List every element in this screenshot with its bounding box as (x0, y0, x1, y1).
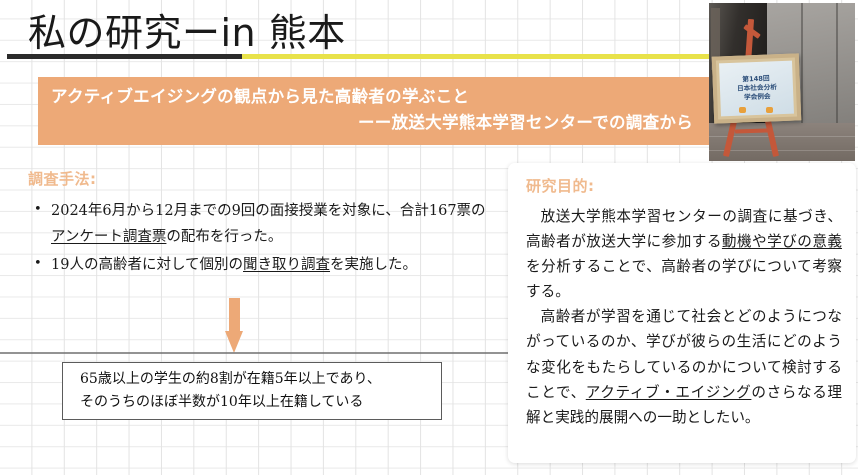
method-bullet-list: 2024年6月から12月までの9回の面接授業を対象に、合計167票のアンケート調… (28, 198, 498, 278)
bullet-2-pre: 19人の高齢者に対して個別の (51, 257, 243, 273)
result-line-2: そのうちのほぼ半数が10年以上在籍している (80, 391, 429, 414)
purpose-heading: 研究目的: (526, 175, 842, 196)
arrow-shaft (229, 298, 240, 334)
purpose-paragraph-1: 放送大学熊本学習センターの調査に基づき、高齢者が放送大学に参加する動機や学びの意… (526, 204, 842, 304)
slide-canvas: 私の研究ーin 熊本 アクティブエイジングの観点から見た高齢者の学ぶこと ーー放… (0, 0, 858, 475)
purpose-p1-post: を分析することで、高齢者の学びについて考察する。 (526, 258, 842, 300)
divider (0, 352, 508, 354)
bullet-1-post: の配布を行った。 (166, 229, 282, 245)
photo-sign-line-2: 日本社会分析 (736, 84, 776, 94)
bullet-2-post: を実施した。 (330, 257, 417, 273)
photo-wall-seam (801, 3, 803, 142)
title-underline-dark-segment (7, 54, 242, 59)
result-line-1: 65歳以上の学生の約8割が在籍5年以上であり、 (80, 368, 429, 391)
photo-easel-knob-left (739, 107, 746, 113)
purpose-p1-underlined: 動機や学びの意義 (722, 233, 842, 250)
purpose-p2-underlined: アクティブ・エイジング (586, 384, 752, 401)
subtitle-line-1: アクティブエイジングの観点から見た高齢者の学ぶこと (51, 84, 693, 110)
photo-content: 第148回 日本社会分析 学会例会 (709, 3, 855, 161)
bullet-2-underlined: 聞き取り調査 (243, 257, 330, 273)
conference-photo: 第148回 日本社会分析 学会例会 (709, 3, 855, 161)
down-arrow-icon (225, 298, 243, 354)
method-section: 調査手法: 2024年6月から12月までの9回の面接授業を対象に、合計167票の… (28, 168, 498, 279)
photo-easel-knob-right (766, 107, 773, 113)
subtitle-banner: アクティブエイジングの観点から見た高齢者の学ぶこと ーー放送大学熊本学習センター… (38, 77, 715, 145)
photo-signboard-face: 第148回 日本社会分析 学会例会 (719, 61, 794, 117)
photo-floor-line (709, 150, 855, 151)
bullet-1-underlined: アンケート調査票 (51, 229, 166, 245)
purpose-panel: 研究目的: 放送大学熊本学習センターの調査に基づき、高齢者が放送大学に参加する動… (508, 163, 856, 463)
arrow-head (225, 331, 243, 353)
method-heading: 調査手法: (28, 168, 498, 189)
result-callout-box: 65歳以上の学生の約8割が在籍5年以上であり、 そのうちのほぼ半数が10年以上在… (62, 362, 442, 420)
bullet-1-pre: 2024年6月から12月までの9回の面接授業を対象に、合計167票の (51, 203, 486, 219)
subtitle-line-2: ーー放送大学熊本学習センターでの調査から (51, 110, 693, 136)
list-item: 19人の高齢者に対して個別の聞き取り調査を実施した。 (28, 252, 498, 278)
photo-sign-line-3: 学会例会 (743, 93, 770, 102)
photo-wall-seam (836, 3, 838, 142)
list-item: 2024年6月から12月までの9回の面接授業を対象に、合計167票のアンケート調… (28, 198, 498, 251)
photo-signboard: 第148回 日本社会分析 学会例会 (712, 53, 802, 123)
purpose-paragraph-2: 高齢者が学習を通じて社会とどのようにつながっているのか、学びが彼らの生活にどのよ… (526, 304, 842, 429)
